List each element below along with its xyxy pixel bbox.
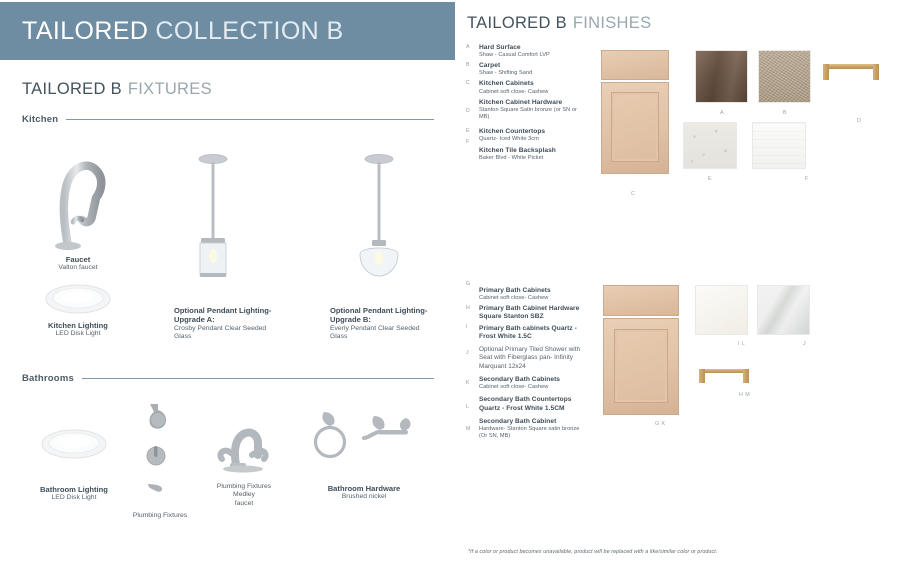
legend-letter: A — [466, 44, 470, 50]
towel-bar-icon — [310, 408, 416, 466]
swatch-label-f: F — [805, 176, 809, 182]
legend-letter: H — [466, 305, 470, 311]
pull-leg-left — [823, 64, 829, 80]
legend-letter: D — [466, 108, 470, 114]
divider-line — [66, 119, 434, 120]
swatch-fill — [752, 122, 806, 169]
swatch-label-d: D — [857, 118, 861, 124]
finishes-heading-bold: TAILORED B — [467, 14, 567, 33]
swatch-label-c: C — [631, 191, 635, 197]
caption-detail: faucet — [208, 500, 280, 508]
caption-title: Optional Pendant Lighting- Upgrade A: — [174, 306, 279, 325]
finishes-column: TAILORED B FINISHES A Hard Surface Shaw … — [455, 0, 900, 569]
kitchen-section-rule: Kitchen — [22, 114, 434, 125]
caption-detail: Crosby Pendant Clear Seeded Glass — [174, 325, 279, 342]
finishes-spec-sheet: TAILORED COLLECTION B TAILORED B FIXTURE… — [0, 0, 900, 569]
swatch-label-a: A — [720, 110, 724, 116]
caption-plumbing-fixtures: Plumbing Fixtures — [118, 512, 202, 520]
swatch-label-e: E — [708, 176, 712, 182]
shower-trim-icon — [132, 398, 188, 498]
caption-title: Bathroom Lighting — [28, 485, 120, 494]
caption-detail: LED Disk Light — [28, 494, 120, 502]
legend-sub: Shaw - Casual Comfort LVP — [479, 52, 587, 59]
disk-light-icon — [40, 425, 108, 461]
legend-letter: K — [466, 380, 470, 386]
legend-sub: Cabinet soft close- Cashew — [479, 295, 587, 302]
legend-sub: Baker Blvd - White Picket — [479, 155, 587, 162]
pull-leg-right — [743, 369, 748, 383]
swatch-kitchen-cabinet-door — [601, 50, 669, 174]
page-title-bold: TAILORED — [22, 17, 148, 46]
legend-title: Primary Bath Cabinet Hardware Square Sta… — [479, 305, 587, 321]
divider-line — [82, 378, 434, 379]
legend-title: Optional Primary Tiled Shower with Seat … — [479, 346, 587, 371]
legend-letter: F — [466, 139, 469, 145]
swatch-fill — [758, 50, 811, 103]
caption-detail: LED Disk Light — [28, 330, 128, 338]
pull-bar — [699, 369, 749, 373]
caption-pendant-a: Optional Pendant Lighting- Upgrade A: Cr… — [174, 306, 279, 341]
page-title-bar: TAILORED COLLECTION B — [0, 2, 455, 60]
legend-letter: G — [466, 281, 470, 287]
pendant-schoolhouse-icon — [348, 150, 410, 278]
swatch-kitchen-cabinet-hardware — [821, 58, 881, 80]
legend-item: A Hard Surface Shaw - Casual Comfort LVP — [465, 44, 587, 59]
caption-title: Bathroom Hardware — [318, 484, 410, 493]
legend-letter: I — [466, 324, 468, 330]
caption-title: Optional Pendant Lighting- Upgrade B: — [330, 306, 435, 325]
fixtures-heading-bold: TAILORED B — [22, 80, 122, 99]
page-title-light: COLLECTION B — [155, 17, 343, 46]
finishes-heading: TAILORED B FINISHES — [467, 14, 651, 33]
swatch-kitchen-backsplash — [752, 122, 806, 169]
legend-title: Kitchen Cabinets — [479, 80, 587, 88]
swatch-bath-cabinet-hardware — [697, 363, 751, 383]
pull-bar — [823, 64, 878, 69]
swatch-bath-countertop-frost-white — [695, 285, 748, 335]
legend-bottom: G Primary Bath Cabinets Cabinet soft clo… — [465, 287, 587, 443]
legend-item: L Secondary Bath Countertops Quartz - Fr… — [465, 396, 587, 412]
caption-bathroom-lighting: Bathroom Lighting LED Disk Light — [28, 485, 120, 503]
caption-title: Plumbing Fixtures Medley — [208, 483, 280, 500]
swatch-fill — [683, 122, 737, 169]
legend-sub: Hardware- Stanton Square satin bronze (O… — [479, 426, 587, 440]
legend-sub: Shaw - Shifting Sand — [479, 70, 587, 77]
legend-item: I Primary Bath cabinets Quartz - Frost W… — [465, 325, 587, 341]
caption-title: Faucet — [32, 255, 124, 264]
legend-item: F Kitchen Tile Backsplash Baker Blvd - W… — [465, 147, 587, 162]
door-panel — [601, 82, 669, 174]
door-drawer — [603, 285, 679, 316]
door-panel — [603, 318, 679, 415]
bathrooms-section-rule: Bathrooms — [22, 373, 434, 384]
caption-kitchen-lighting: Kitchen Lighting LED Disk Light — [28, 321, 128, 339]
swatch-fill — [695, 50, 748, 103]
legend-sub: Quartz- Iced White 3cm — [479, 136, 587, 143]
legend-item: E Kitchen Countertops Quartz- Iced White… — [465, 128, 587, 143]
door-inner-panel — [611, 92, 660, 163]
legend-letter: M — [466, 426, 471, 432]
legend-top: A Hard Surface Shaw - Casual Comfort LVP… — [465, 44, 587, 165]
door-inner-panel — [614, 329, 669, 403]
legend-title: Hard Surface — [479, 44, 587, 52]
legend-item: B Carpet Shaw - Shifting Sand — [465, 62, 587, 77]
legend-letter: L — [466, 404, 469, 410]
swatch-hard-surface — [695, 50, 748, 103]
caption-title: Kitchen Lighting — [28, 321, 128, 330]
legend-letter: J — [466, 350, 469, 356]
door-drawer — [601, 50, 669, 80]
disclaimer-text: *If a color or product becomes unavailab… — [468, 549, 888, 555]
legend-title: Carpet — [479, 62, 587, 70]
disk-light-icon — [44, 280, 112, 316]
legend-letter: C — [466, 80, 470, 86]
legend-letter: E — [466, 128, 470, 134]
swatch-label-gk: G K — [655, 421, 666, 427]
legend-letter: B — [466, 62, 470, 68]
caption-plumbing-medley: Plumbing Fixtures Medley faucet — [208, 483, 280, 508]
legend-title: Secondary Bath Countertops Quartz - Fros… — [479, 396, 587, 412]
swatch-shower-tile — [757, 285, 810, 335]
lav-faucet-icon — [208, 415, 280, 473]
legend-sub: Cabinet soft close- Cashew — [479, 89, 587, 96]
fixtures-heading-light: FIXTURES — [128, 80, 212, 99]
swatch-label-hm: H M — [739, 392, 750, 398]
caption-detail: Valton faucet — [32, 264, 124, 272]
caption-bathroom-hardware: Bathroom Hardware Brushed nickel — [318, 484, 410, 502]
swatch-fill — [695, 285, 748, 335]
pull-leg-left — [699, 369, 704, 383]
legend-title: Secondary Bath Cabinet — [479, 418, 587, 426]
caption-faucet: Faucet Valton faucet — [32, 255, 124, 273]
pull-leg-right — [873, 64, 879, 80]
legend-title: Primary Bath cabinets Quartz - Frost Whi… — [479, 325, 587, 341]
swatch-label-b: B — [783, 110, 787, 116]
legend-item: C Kitchen Cabinets Cabinet soft close- C… — [465, 80, 587, 95]
fixtures-column: TAILORED COLLECTION B TAILORED B FIXTURE… — [0, 0, 455, 569]
legend-item: J Optional Primary Tiled Shower with Sea… — [465, 346, 587, 371]
pendant-cylinder-icon — [190, 150, 236, 278]
legend-item: K Secondary Bath Cabinets Cabinet soft c… — [465, 376, 587, 391]
kitchen-faucet-icon — [42, 146, 112, 251]
legend-item: H Primary Bath Cabinet Hardware Square S… — [465, 305, 587, 321]
legend-item: D Kitchen Cabinet Hardware Stanton Squar… — [465, 99, 587, 121]
caption-title: Plumbing Fixtures — [118, 512, 202, 520]
legend-sub: Stanton Square Satin bronze (or SN or MB… — [479, 107, 587, 121]
swatch-carpet — [758, 50, 811, 103]
legend-title: Kitchen Countertops — [479, 128, 587, 136]
swatch-fill — [757, 285, 810, 335]
legend-item: M Secondary Bath Cabinet Hardware- Stant… — [465, 418, 587, 440]
legend-sub: Cabinet soft close- Cashew — [479, 384, 587, 391]
bathrooms-label: Bathrooms — [22, 373, 74, 384]
legend-title: Secondary Bath Cabinets — [479, 376, 587, 384]
swatch-label-il: I L — [738, 341, 745, 347]
caption-detail: Everly Pendant Clear Seeded Glass — [330, 325, 435, 342]
finishes-heading-light: FINISHES — [573, 14, 652, 33]
swatch-bath-cabinet-door — [603, 285, 679, 415]
legend-title: Kitchen Cabinet Hardware — [479, 99, 587, 107]
kitchen-label: Kitchen — [22, 114, 58, 125]
fixtures-heading: TAILORED B FIXTURES — [22, 80, 212, 99]
legend-title: Primary Bath Cabinets — [479, 287, 587, 295]
swatch-label-j: J — [803, 341, 806, 347]
legend-item: G Primary Bath Cabinets Cabinet soft clo… — [465, 287, 587, 302]
caption-pendant-b: Optional Pendant Lighting- Upgrade B: Ev… — [330, 306, 435, 341]
legend-title: Kitchen Tile Backsplash — [479, 147, 587, 155]
swatch-kitchen-countertop — [683, 122, 737, 169]
caption-detail: Brushed nickel — [318, 493, 410, 501]
